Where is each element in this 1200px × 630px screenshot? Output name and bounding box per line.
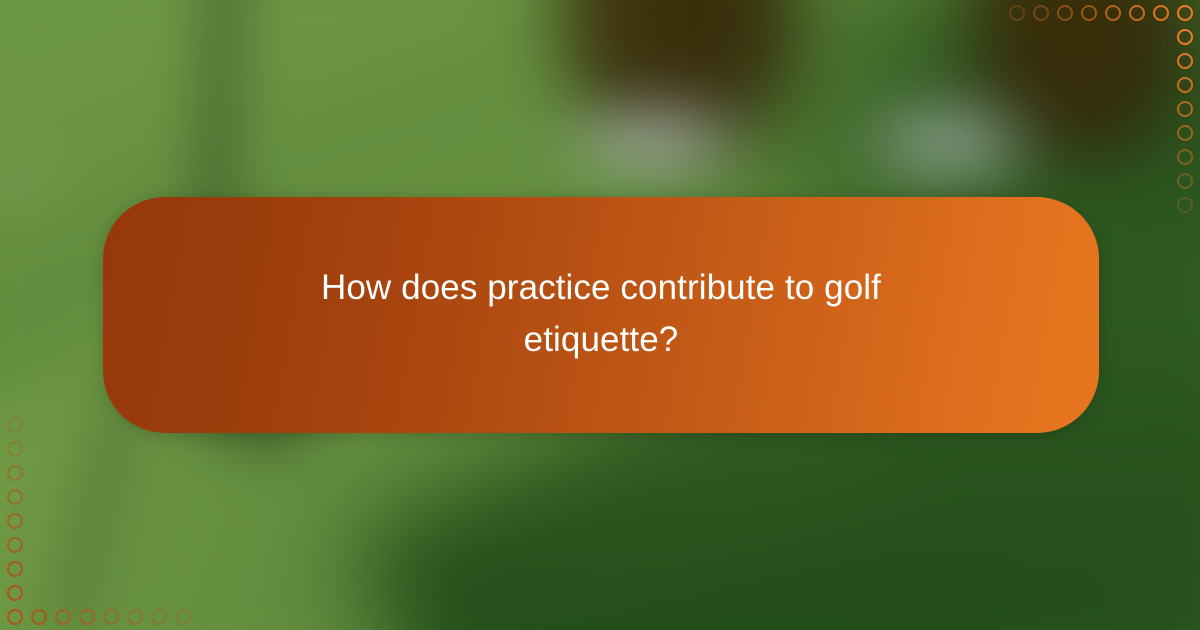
social-card-canvas: How does practice contribute to golf eti… — [0, 0, 1200, 630]
question-card: How does practice contribute to golf eti… — [103, 197, 1099, 433]
golfer-skin-highlight — [578, 0, 648, 58]
question-text: How does practice contribute to golf eti… — [271, 262, 931, 368]
golf-shoe-right — [860, 110, 1040, 180]
golf-shoe-left — [560, 106, 750, 178]
